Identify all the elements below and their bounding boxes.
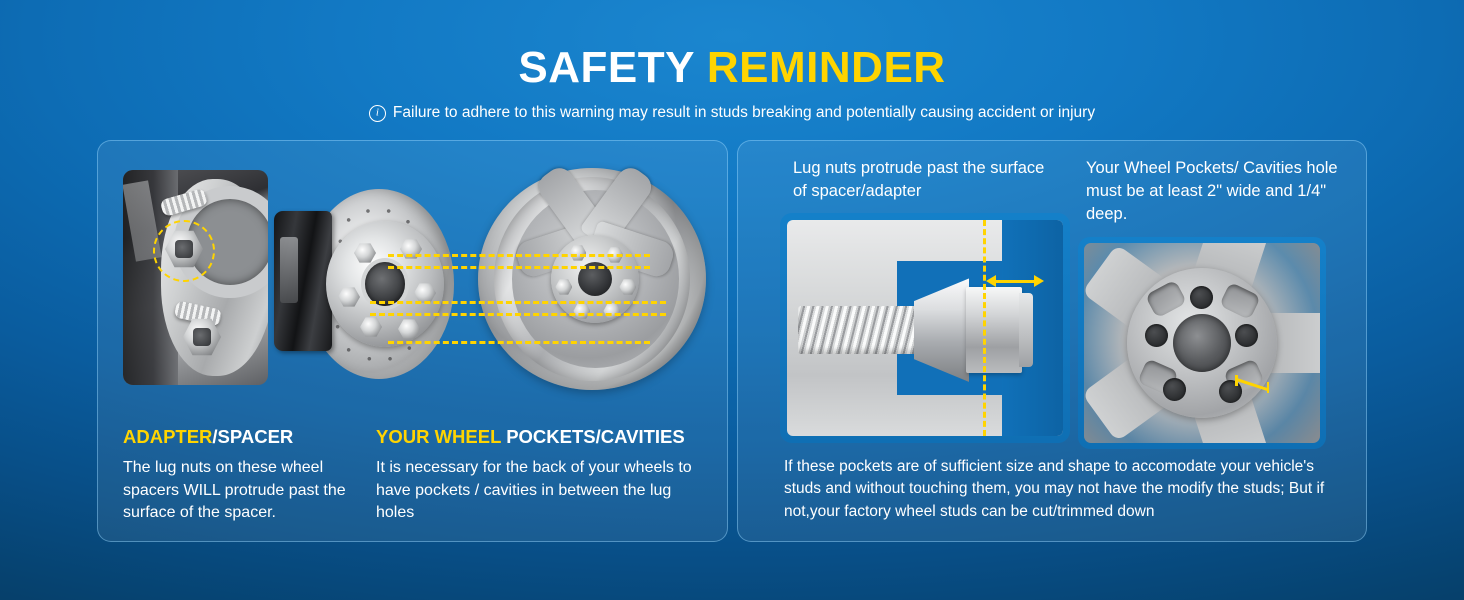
caption-adapter-body: The lug nuts on these wheel spacers WILL… <box>123 457 363 525</box>
arrow-head-right-icon <box>1034 275 1044 287</box>
info-circle-icon <box>369 105 386 122</box>
caption-adapter-heading-rest: /SPACER <box>212 426 293 447</box>
wheel-back-pockets-illustration <box>478 168 706 390</box>
lug-hole <box>1235 324 1258 347</box>
wheel-closeup-canvas <box>1084 243 1320 443</box>
bolt-hex-head <box>966 287 1021 373</box>
yellow-dashed-alignment-line <box>388 266 650 269</box>
lug-bolt-cross-section-diagram <box>780 213 1070 443</box>
subtitle-row: Failure to adhere to this warning may re… <box>0 104 1464 122</box>
subtitle-text: Failure to adhere to this warning may re… <box>393 104 1095 122</box>
wheel-hub-plate <box>551 235 639 323</box>
wheel-spacer-adapter-photo <box>123 170 268 385</box>
right-panel-note: If these pockets are of sufficient size … <box>784 456 1344 523</box>
measure-tick-right <box>1267 382 1270 393</box>
title-word-safety: SAFETY <box>518 43 694 92</box>
double-headed-protrusion-arrow <box>986 274 1044 288</box>
safety-reminder-banner: SAFETY REMINDER Failure to adhere to thi… <box>0 0 1464 600</box>
hub-spacer <box>326 221 444 347</box>
bolt-head-cap <box>1019 293 1033 366</box>
brake-caliper-rotor-spacer-illustration <box>274 189 474 379</box>
wheel-hub-plate <box>1127 268 1277 418</box>
bolt-threaded-shank <box>798 306 925 354</box>
arrow-shaft <box>990 280 1039 283</box>
left-panel: ADAPTER/SPACER The lug nuts on these whe… <box>97 140 728 542</box>
wheel-center-bore <box>1173 314 1231 372</box>
lug-nut <box>573 303 590 319</box>
caption-wheel-heading: YOUR WHEEL POCKETS/CAVITIES <box>376 426 706 448</box>
lug-nut <box>603 303 620 319</box>
caption-your-wheel: YOUR WHEEL POCKETS/CAVITIES It is necess… <box>376 426 706 525</box>
caption-adapter-heading-accent: ADAPTER <box>123 426 212 447</box>
title-word-reminder: REMINDER <box>707 43 946 92</box>
lug-hole <box>1190 286 1213 309</box>
yellow-dashed-highlight-circle <box>153 220 215 282</box>
lug-nut <box>338 287 360 307</box>
measure-line <box>1235 378 1268 391</box>
caption-wheel-heading-accent: YOUR WHEEL <box>376 426 501 447</box>
lug-nut <box>569 245 586 261</box>
caption-wheel-heading-rest: POCKETS/CAVITIES <box>501 426 685 447</box>
caption-wheel-body: It is necessary for the back of your whe… <box>376 457 706 525</box>
lug-nut <box>360 317 382 337</box>
wheel-pocket-cavity <box>1219 282 1261 320</box>
right-panel-heading-left: Lug nuts protrude past the surface of sp… <box>793 157 1058 203</box>
caption-adapter-spacer: ADAPTER/SPACER The lug nuts on these whe… <box>123 426 363 525</box>
lug-hole <box>1145 324 1168 347</box>
yellow-dashed-reference-line <box>983 220 986 436</box>
caption-adapter-heading: ADAPTER/SPACER <box>123 426 363 448</box>
yellow-dashed-alignment-line <box>388 254 650 257</box>
lug-nut <box>398 319 420 339</box>
page-title: SAFETY REMINDER <box>0 46 1464 90</box>
yellow-dashed-alignment-line <box>370 313 666 316</box>
lug-hole <box>1163 378 1186 401</box>
brake-caliper <box>274 211 332 351</box>
lug-nut <box>555 279 572 295</box>
lug-nut <box>414 283 436 303</box>
bolt-diagram-canvas <box>787 220 1063 436</box>
wheel-pocket-closeup-photo <box>1078 237 1326 449</box>
right-panel-heading-right: Your Wheel Pockets/ Cavities hole must b… <box>1086 157 1361 225</box>
banner-header: SAFETY REMINDER Failure to adhere to thi… <box>0 0 1464 122</box>
yellow-dashed-alignment-line <box>370 301 666 304</box>
yellow-pocket-measurement-marker <box>1235 374 1269 392</box>
lug-nut <box>354 243 376 263</box>
yellow-dashed-alignment-line <box>388 341 650 344</box>
panels-container: ADAPTER/SPACER The lug nuts on these whe… <box>97 140 1367 542</box>
lug-nut <box>619 279 636 295</box>
right-panel: Lug nuts protrude past the surface of sp… <box>737 140 1367 542</box>
